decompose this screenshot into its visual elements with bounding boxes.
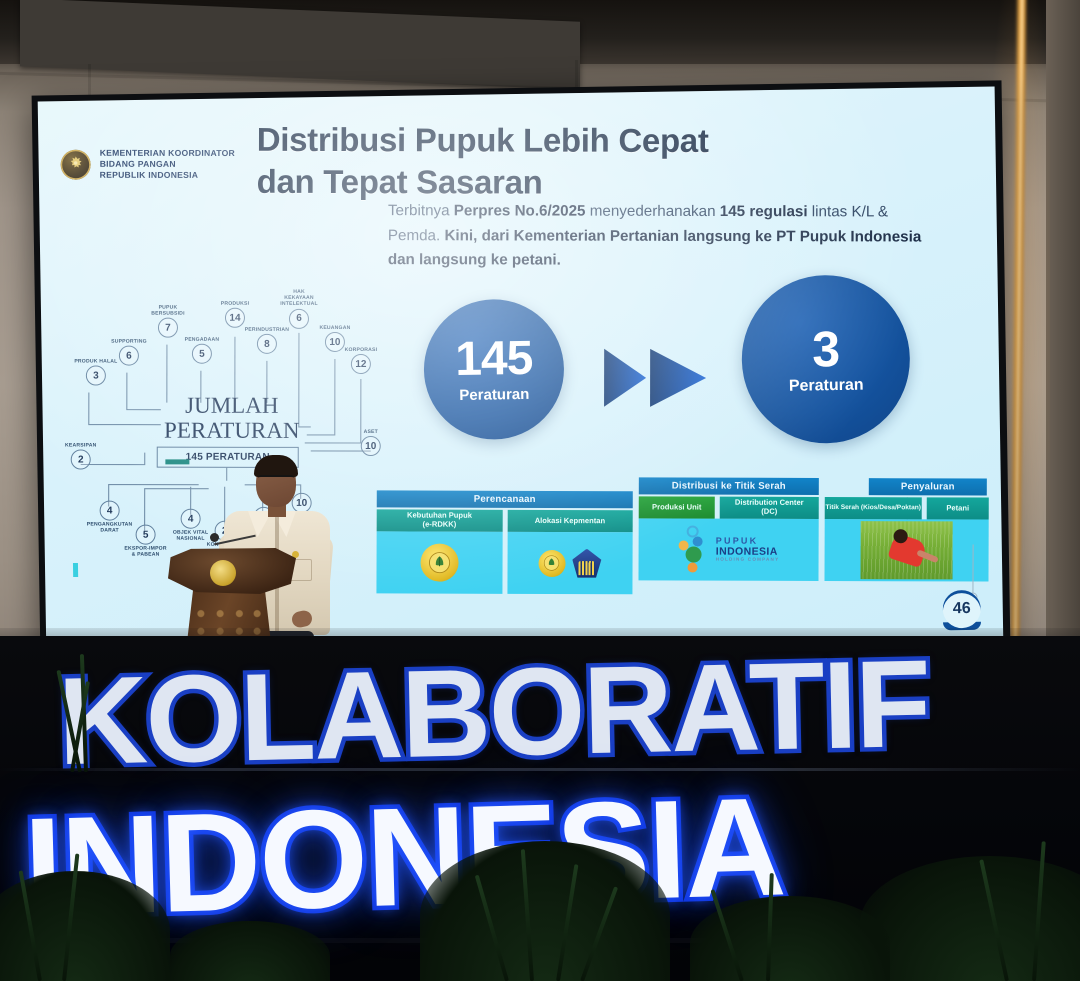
flow-column-label: Petani [927,497,989,519]
flow-column: Kebutuhan Pupuk (e-RDKK) [376,509,502,593]
flow-column-label: Kebutuhan Pupuk (e-RDKK) [377,509,503,531]
speaker-eyeglasses [258,475,294,484]
mindmap-node: PERINDUSTRIAN 8 [241,327,293,354]
flow-column: Petani [927,497,989,519]
podium-crest-icon [210,560,236,586]
flow-column-body-farmer [824,519,988,582]
flow-column-label: Distribution Center (DC) [720,497,819,519]
distribution-flow-diagram: Perencanaan Kebutuhan Pupuk (e-RDKK) [376,476,988,600]
mindmap-node: PENGADAAN 5 [179,337,225,364]
after-count-circle: 3 Peraturan [741,274,912,445]
slide-decorative-dash [165,459,189,464]
mindmap-node: PUPUK BERSUBSIDI 7 [145,305,191,338]
node-value: 6 [119,346,139,366]
mindmap-node: 5 EKSPOR-IMPOR & PABEAN [121,525,171,558]
flow-group-distribusi: Distribusi ke Titik Serah Produksi Unit … [638,477,818,581]
mindmap-node: PRODUKSI 14 [213,301,257,328]
foliage-bush [420,841,670,981]
before-count-label: Peraturan [459,386,529,404]
photo-scene: KEMENTERIAN KOORDINATOR BIDANG PANGAN RE… [0,0,1080,981]
subtitle-seg-3: menyederhanakan [585,203,719,220]
pupuk-indonesia-logo-icon: PUPUK INDONESIA HOLDING COMPANY [678,525,780,573]
node-label: ASET [349,429,393,435]
slide-subtitle: Terbitnya Perpres No.6/2025 menyederhana… [388,199,928,274]
flow-column: Alokasi Kepmentan [507,510,633,594]
ministry-lockup: KEMENTERIAN KOORDINATOR BIDANG PANGAN RE… [61,148,235,181]
node-label: SUPPORTING [105,339,153,345]
subtitle-seg-2: Perpres No.6/2025 [454,202,586,219]
farmer-in-rice-field-photo [860,521,952,579]
node-label: PRODUKSI [213,301,257,307]
microphone-head-icon [210,533,219,542]
node-label: KEUANGAN [313,325,357,331]
subtitle-seg-1: Terbitnya [388,202,454,219]
node-value: 2 [71,450,91,470]
flow-column-body-pupuk: PUPUK INDONESIA HOLDING COMPANY [638,518,818,581]
fast-forward-icon [602,347,712,409]
flow-group-header: Distribusi ke Titik Serah [639,477,819,495]
flow-group-perencanaan: Perencanaan Kebutuhan Pupuk (e-RDKK) [376,490,632,594]
ministry-line-3: REPUBLIK INDONESIA [100,170,235,181]
after-count-label: Peraturan [789,376,864,395]
node-label: PENGADAAN [179,337,225,343]
wall-right-edge [1046,0,1080,700]
ministry-line-1: KEMENTERIAN KOORDINATOR [100,148,235,159]
mindmap-center-line-2: PERATURAN [157,418,307,444]
garuda-pancasila-emblem-icon [61,149,91,179]
sign-line-kolaboratif: KOLABORATIF [57,633,931,793]
kementan-emblem-icon [538,549,565,576]
flow-column: Produksi Unit [639,496,715,518]
mindmap-node: SUPPORTING 6 [105,339,153,366]
node-value: 6 [289,308,309,328]
slide-title-line-2: dan Tepat Sasaran [257,161,837,205]
mindmap-node: HAK KEKAYAAN INTELEKTUAL 6 [267,289,331,329]
node-value: 4 [100,501,120,521]
before-count-number: 145 [455,335,533,384]
slide-title-line-1: Distribusi Pupuk Lebih Cepat [257,119,837,163]
flow-column-body [507,532,633,594]
slide-title: Distribusi Pupuk Lebih Cepat dan Tepat S… [257,119,837,205]
foliage-bush [860,856,1080,981]
flow-column-label: Produksi Unit [639,496,715,518]
before-count-circle: 145 Peraturan [423,298,565,440]
flow-group-penyaluran: Penyaluran Titik Serah (Kios/Desa/Poktan… [824,478,988,582]
node-label: KEARSIPAN [59,442,103,448]
mindmap-node: KEARSIPAN 2 [59,442,103,469]
flow-right-rail [972,544,974,596]
kementan-emblem-icon [420,544,458,582]
speaker-hair [254,455,298,477]
node-label: PUPUK BERSUBSIDI [145,305,191,317]
flow-column-body [376,531,502,593]
node-label: EKSPOR-IMPOR & PABEAN [121,546,171,558]
flow-column: Titik Serah (Kios/Desa/Poktan) [825,497,922,519]
mindmap-node: KORPORASI 12 [339,347,383,374]
node-label: KORPORASI [339,347,383,353]
flow-group-header: Penyaluran [869,478,987,495]
mindmap-node: ASET 10 [349,429,393,456]
node-value: 12 [351,354,371,374]
ministry-line-2: BIDANG PANGAN [100,159,235,170]
node-value: 5 [192,344,212,364]
venue-neon-signboard: KOLABORATIF INDONESIA [0,636,1080,981]
mindmap-center-label: JUMLAH PERATURAN [157,393,307,444]
node-value: 8 [257,334,277,354]
node-value: 7 [158,318,178,338]
subtitle-seg-4: 145 regulasi [720,203,808,220]
node-value: 3 [86,366,106,386]
flow-column: Distribution Center (DC) [720,497,819,519]
pupuk-logo-line-3: HOLDING COMPANY [716,557,780,562]
flow-group-header: Perencanaan [377,490,633,508]
kemenkeu-emblem-icon [572,549,601,578]
flow-column-label: Titik Serah (Kios/Desa/Poktan) [825,497,922,519]
node-value: 10 [361,436,381,456]
slide-decorative-tick [73,563,78,577]
node-value: 14 [225,308,245,328]
node-label: HAK KEKAYAAN INTELEKTUAL [267,289,331,308]
subtitle-seg-6: Kini, dari Kementerian Pertanian langsun… [388,227,921,269]
node-value: 5 [136,525,156,545]
after-count-number: 3 [812,324,840,374]
foliage-plant-left [62,652,98,772]
sign-line-1-text: KOLABORATIF [57,633,931,793]
mindmap-center-line-1: JUMLAH [157,393,307,419]
flow-column-label: Alokasi Kepmentan [507,510,633,532]
